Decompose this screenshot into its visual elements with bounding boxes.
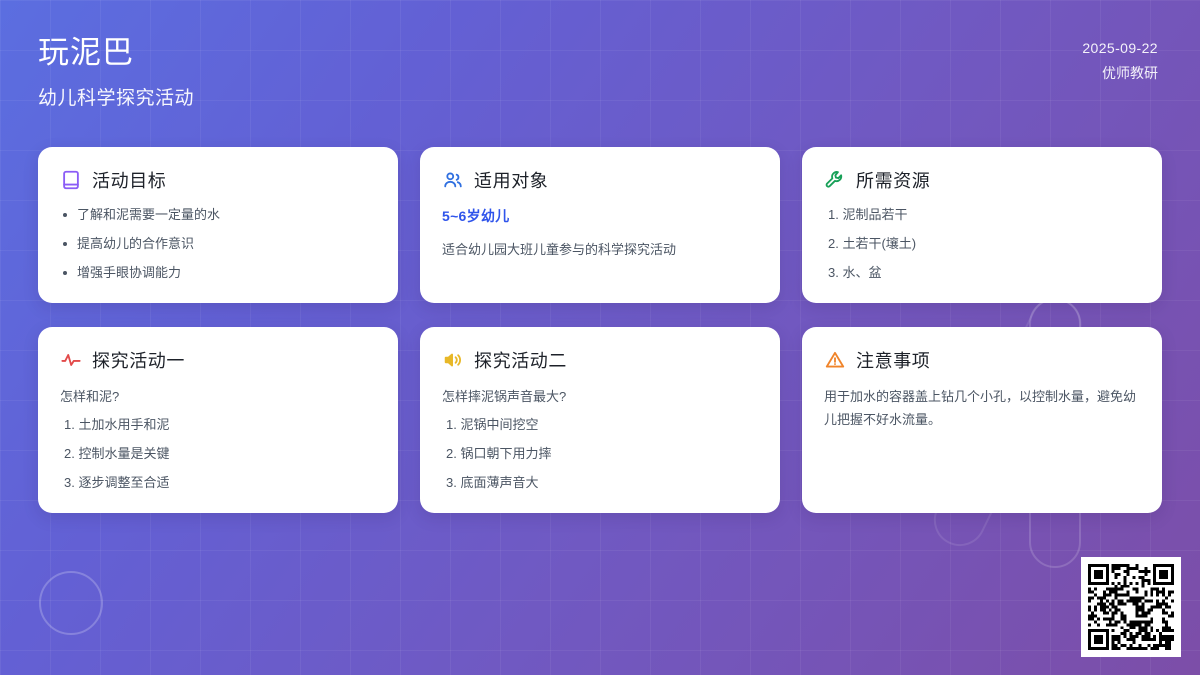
page-title: 玩泥巴 — [38, 34, 1160, 73]
card-title: 适用对象 — [474, 167, 548, 193]
card-title: 探究活动一 — [92, 347, 185, 373]
book-icon — [60, 169, 82, 191]
card-precautions[interactable]: 注意事项 用于加水的容器盖上钻几个小孔，以控制水量，避免幼儿把握不好水流量。 — [802, 327, 1162, 513]
list-item: 控制水量是关键 — [60, 445, 376, 464]
list-item: 泥制品若干 — [824, 206, 1140, 225]
activity-question: 怎样摔泥锅声音最大? — [442, 386, 758, 405]
qr-code-image — [1088, 564, 1174, 650]
header-date: 2025-09-22 — [1082, 38, 1158, 59]
activity-question: 怎样和泥? — [60, 386, 376, 405]
list-item: 泥锅中间挖空 — [442, 416, 758, 435]
page-header: 玩泥巴 幼儿科学探究活动 2025-09-22 优师教研 — [0, 0, 1200, 147]
goals-list: 了解和泥需要一定量的水 提高幼儿的合作意识 增强手眼协调能力 — [60, 206, 376, 283]
card-header: 探究活动二 — [442, 347, 758, 373]
header-meta: 2025-09-22 优师教研 — [1082, 38, 1158, 84]
card-target-audience[interactable]: 适用对象 5~6岁幼儿 适合幼儿园大班儿童参与的科学探究活动 — [420, 147, 780, 303]
card-grid: 活动目标 了解和泥需要一定量的水 提高幼儿的合作意识 增强手眼协调能力 适用对象… — [38, 147, 1162, 513]
page-subtitle: 幼儿科学探究活动 — [38, 83, 1160, 110]
card-title: 活动目标 — [92, 167, 166, 193]
card-activity-goals[interactable]: 活动目标 了解和泥需要一定量的水 提高幼儿的合作意识 增强手眼协调能力 — [38, 147, 398, 303]
precautions-text: 用于加水的容器盖上钻几个小孔，以控制水量，避免幼儿把握不好水流量。 — [824, 386, 1140, 432]
card-header: 探究活动一 — [60, 347, 376, 373]
list-item: 提高幼儿的合作意识 — [60, 235, 376, 254]
list-item: 土加水用手和泥 — [60, 416, 376, 435]
audience-age-range: 5~6岁幼儿 — [442, 206, 758, 226]
card-title: 注意事项 — [856, 347, 930, 373]
card-header: 适用对象 — [442, 167, 758, 193]
volume-icon — [442, 349, 464, 371]
list-item: 底面薄声音大 — [442, 474, 758, 493]
decorative-circle-outline — [39, 571, 103, 635]
audience-description: 适合幼儿园大班儿童参与的科学探究活动 — [442, 240, 758, 260]
wrench-icon — [824, 169, 846, 191]
activity-pulse-icon — [60, 349, 82, 371]
list-item: 水、盆 — [824, 264, 1140, 283]
card-exploration-activity-two[interactable]: 探究活动二 怎样摔泥锅声音最大? 泥锅中间挖空 锅口朝下用力摔 底面薄声音大 — [420, 327, 780, 513]
card-required-resources[interactable]: 所需资源 泥制品若干 土若干(壤土) 水、盆 — [802, 147, 1162, 303]
card-header: 注意事项 — [824, 347, 1140, 373]
list-item: 锅口朝下用力摔 — [442, 445, 758, 464]
activity-steps-list: 泥锅中间挖空 锅口朝下用力摔 底面薄声音大 — [442, 416, 758, 493]
header-author: 优师教研 — [1082, 62, 1158, 84]
list-item: 土若干(壤土) — [824, 235, 1140, 254]
list-item: 增强手眼协调能力 — [60, 264, 376, 283]
card-exploration-activity-one[interactable]: 探究活动一 怎样和泥? 土加水用手和泥 控制水量是关键 逐步调整至合适 — [38, 327, 398, 513]
card-header: 活动目标 — [60, 167, 376, 193]
users-icon — [442, 169, 464, 191]
list-item: 了解和泥需要一定量的水 — [60, 206, 376, 225]
card-title: 探究活动二 — [474, 347, 567, 373]
card-title: 所需资源 — [856, 167, 930, 193]
warning-triangle-icon — [824, 349, 846, 371]
resources-list: 泥制品若干 土若干(壤土) 水、盆 — [824, 206, 1140, 283]
list-item: 逐步调整至合适 — [60, 474, 376, 493]
qr-code[interactable] — [1081, 557, 1181, 657]
activity-steps-list: 土加水用手和泥 控制水量是关键 逐步调整至合适 — [60, 416, 376, 493]
card-header: 所需资源 — [824, 167, 1140, 193]
